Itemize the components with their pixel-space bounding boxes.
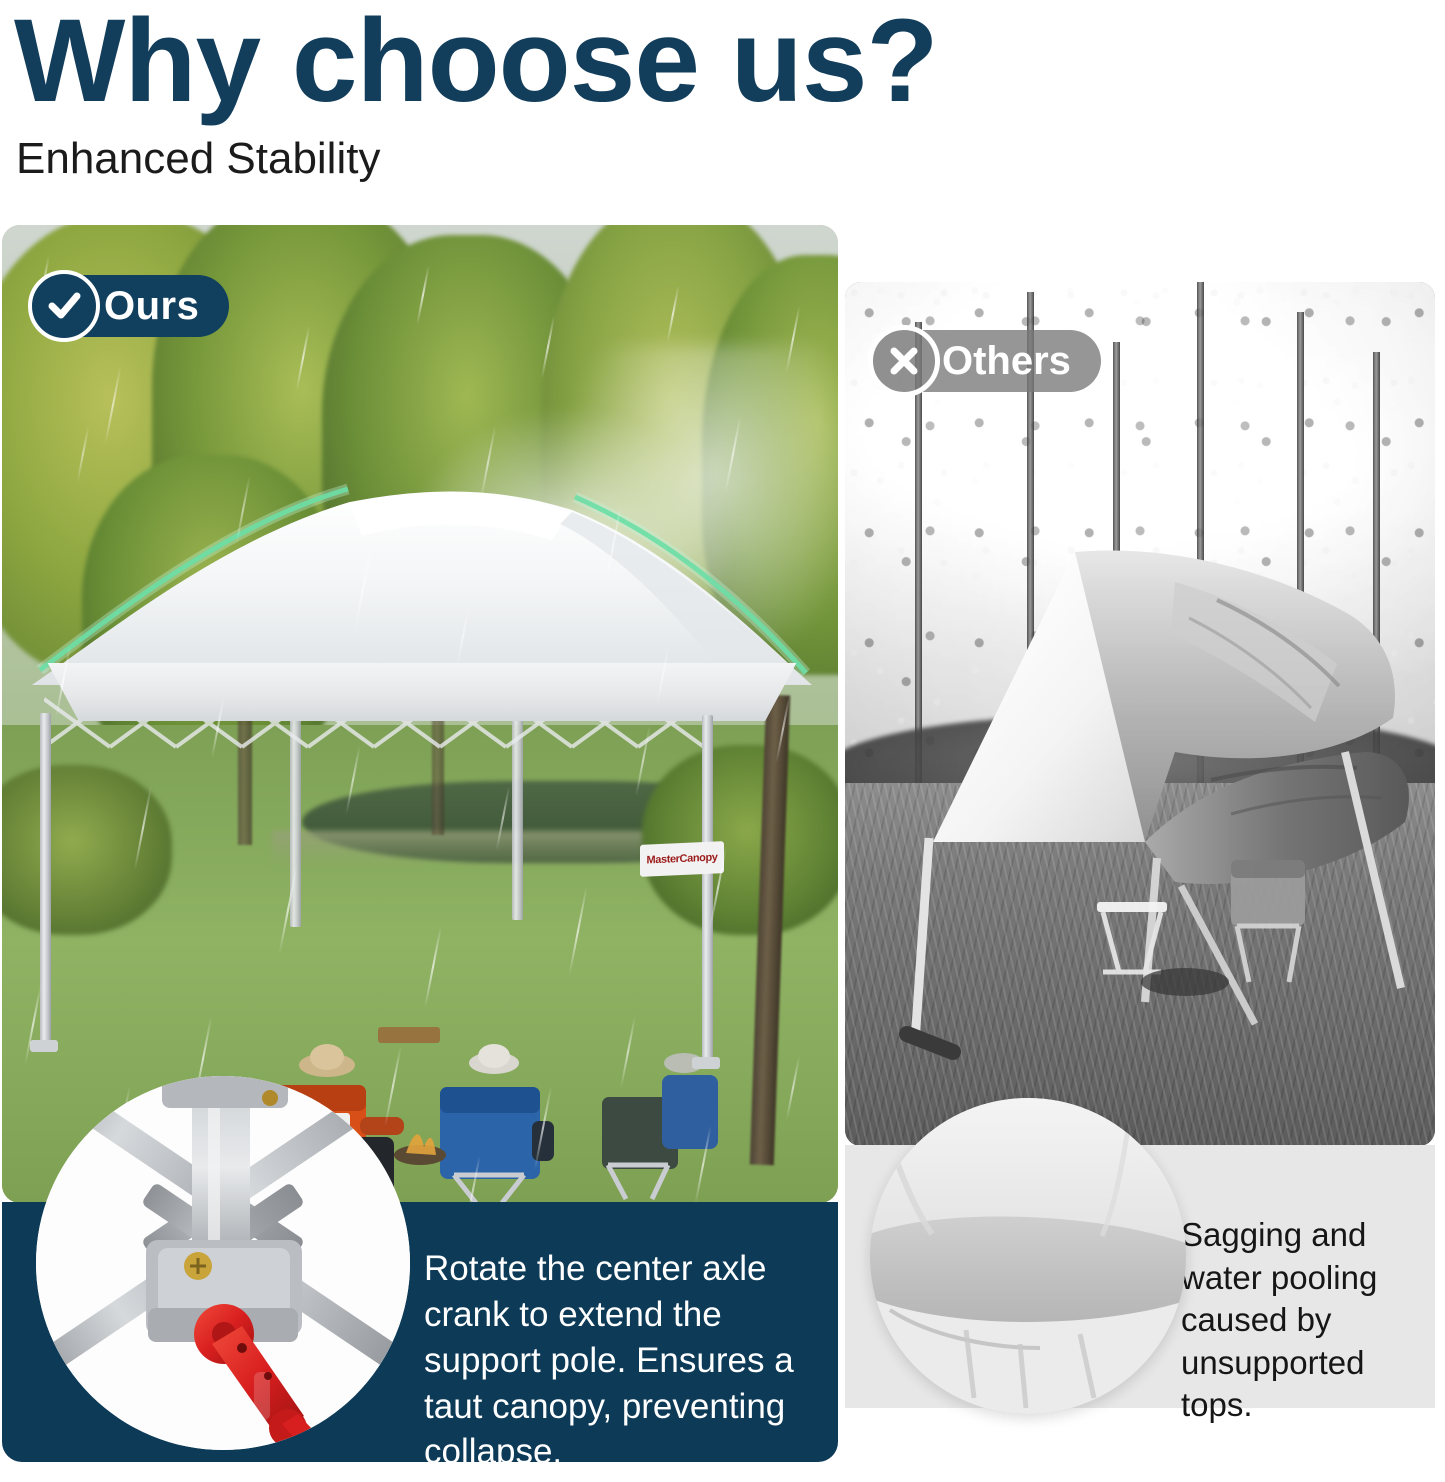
bush [642,745,838,935]
others-scene [845,282,1435,1146]
collapsed-canopy [845,282,1435,1146]
bush [2,765,172,935]
ours-badge-label: Ours [104,286,199,326]
ours-scene: MasterCanopy [2,225,838,1203]
others-photo-panel [845,282,1435,1146]
ours-caption-text: Rotate the center axle crank to extend t… [424,1246,826,1475]
infographic-page: Why choose us? Enhanced Stability [0,0,1445,1482]
canopy-leg [40,713,51,1043]
others-caption-text: Sagging and water pooling caused by unsu… [1181,1214,1439,1427]
canopy-valance [32,663,812,721]
page-title: Why choose us? [14,0,938,131]
canopy-foot [692,1057,720,1069]
canopy-foot [30,1040,58,1052]
canopy-leg [702,715,713,1060]
brand-logo: MasterCanopy [640,841,724,877]
others-badge-label: Others [942,341,1071,381]
page-subtitle: Enhanced Stability [16,134,380,184]
others-badge: Others [872,330,1101,392]
ours-photo-panel: MasterCanopy [2,225,838,1203]
x-circle-icon [868,325,940,397]
others-detail-inset [870,1098,1186,1414]
ours-detail-inset [36,1076,410,1450]
canopy-roof [32,480,812,690]
ours-badge: Ours [30,275,229,337]
check-circle-icon [28,270,100,342]
